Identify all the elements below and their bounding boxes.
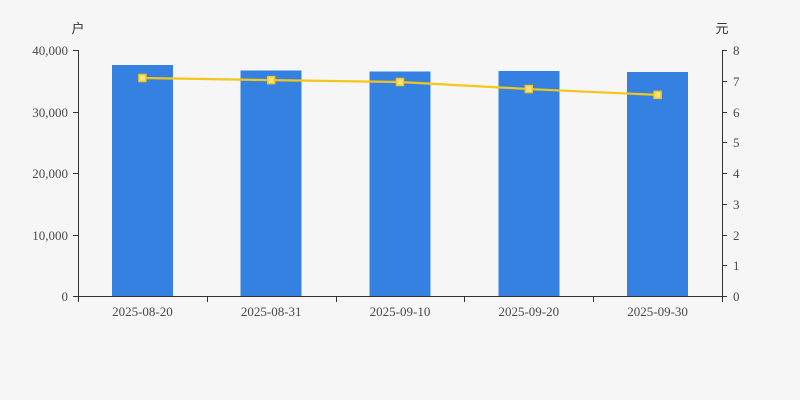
x-axis-category-label: 2025-09-20 bbox=[498, 304, 559, 319]
right-axis-unit-label: 元 bbox=[715, 21, 728, 36]
x-axis-category-label: 2025-09-10 bbox=[370, 304, 431, 319]
right-tick-label: 6 bbox=[733, 105, 740, 120]
line-marker bbox=[397, 78, 404, 85]
right-tick-label: 4 bbox=[733, 166, 740, 181]
bar bbox=[498, 71, 559, 296]
line-marker bbox=[139, 74, 146, 81]
right-tick-label: 3 bbox=[733, 197, 740, 212]
right-tick-label: 5 bbox=[733, 135, 740, 150]
x-axis-category-label: 2025-08-31 bbox=[241, 304, 302, 319]
bar bbox=[627, 72, 688, 296]
right-tick-label: 2 bbox=[733, 228, 740, 243]
chart-container: 户 元 010,00020,00030,00040,000 012345678 … bbox=[0, 0, 800, 400]
right-tick-label: 1 bbox=[733, 258, 740, 273]
right-tick-label: 7 bbox=[733, 74, 740, 89]
x-axis-category-label: 2025-09-30 bbox=[627, 304, 688, 319]
line-marker bbox=[654, 91, 661, 98]
left-tick-label: 20,000 bbox=[32, 166, 68, 181]
line-marker bbox=[525, 86, 532, 93]
x-axis-category-label: 2025-08-20 bbox=[112, 304, 173, 319]
left-tick-label: 0 bbox=[62, 289, 69, 304]
right-tick-label: 0 bbox=[733, 289, 740, 304]
line-marker bbox=[268, 77, 275, 84]
bar bbox=[241, 70, 302, 296]
left-tick-label: 40,000 bbox=[32, 43, 68, 58]
left-axis-unit-label: 户 bbox=[71, 21, 84, 36]
bar-line-combo-chart: 户 元 010,00020,00030,00040,000 012345678 … bbox=[0, 0, 800, 400]
left-tick-label: 10,000 bbox=[32, 228, 68, 243]
bar bbox=[112, 65, 173, 296]
right-tick-label: 8 bbox=[733, 43, 740, 58]
left-tick-label: 30,000 bbox=[32, 105, 68, 120]
bar bbox=[370, 72, 431, 296]
